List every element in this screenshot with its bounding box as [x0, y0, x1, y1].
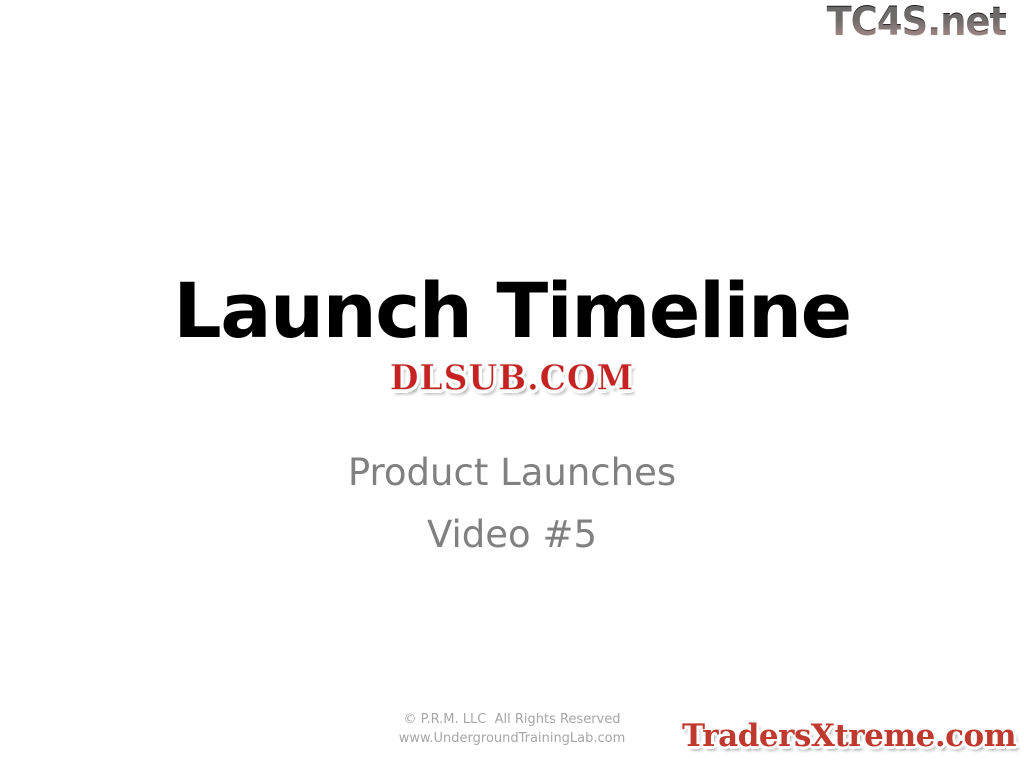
tc4s-net-logo: TC4S.net [826, 2, 1006, 42]
page-title: Launch Timeline [0, 268, 1024, 354]
subtitle-line-1: Product Launches [0, 442, 1024, 504]
title-block: Launch Timeline [0, 268, 1024, 354]
subtitle-block: Product Launches Video #5 [0, 442, 1024, 566]
tradersxtreme-logo: TradersXtreme.com [682, 718, 1016, 754]
dlsub-watermark-label: DLSUB.COM [390, 357, 634, 399]
dlsub-watermark: DLSUB.COM [0, 358, 1024, 398]
subtitle-line-2: Video #5 [0, 504, 1024, 566]
presentation-slide: TC4S.net Launch Timeline DLSUB.COM Produ… [0, 0, 1024, 768]
